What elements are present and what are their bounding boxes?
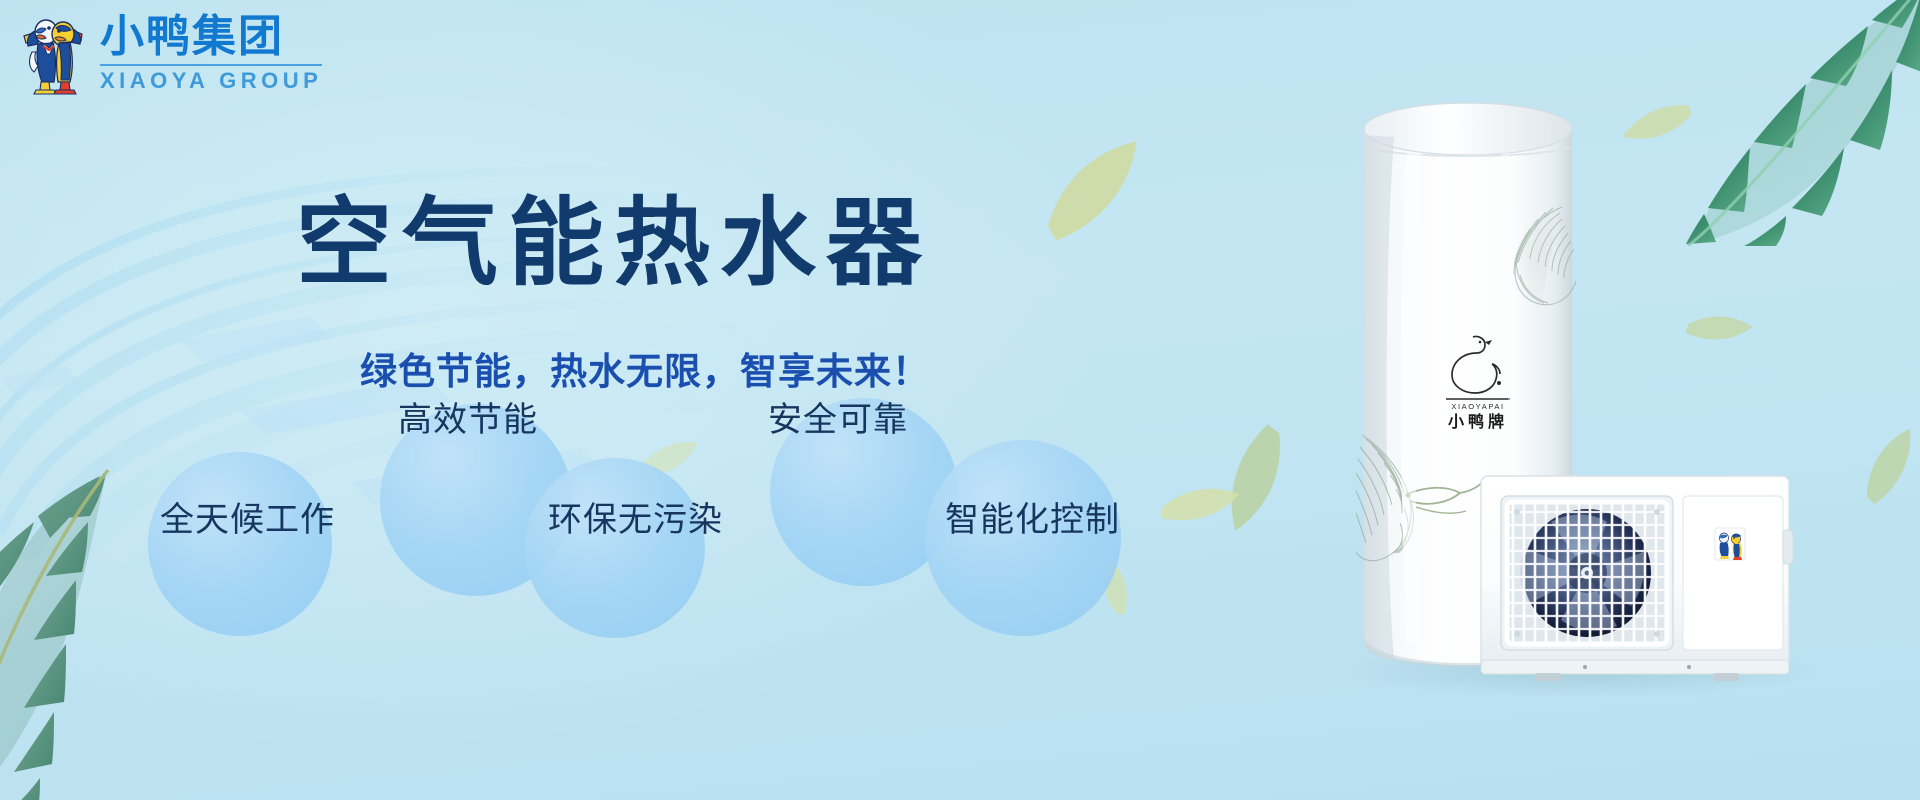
feature-label: 全天候工作	[160, 492, 335, 541]
brand-name-cn: 小鸭集团	[100, 15, 322, 59]
feature-label: 高效节能	[398, 392, 538, 441]
floating-leaf-icon	[1845, 420, 1920, 512]
tank-brand-mark-en: XIAOYAPAI	[1451, 402, 1504, 411]
tank-brand-mark-cn: 小鸭牌	[1448, 412, 1508, 431]
floating-leaf-icon	[1188, 413, 1318, 543]
logo-divider	[100, 64, 322, 66]
duck-mascot-pair-icon	[16, 10, 90, 96]
floating-leaf-icon	[1678, 288, 1760, 370]
floating-leaf-icon	[1616, 81, 1698, 163]
feature-label: 安全可靠	[768, 392, 908, 441]
monstera-leaf-icon	[1610, 0, 1920, 246]
floating-leaf-icon	[1153, 458, 1248, 553]
floating-leaf-icon	[1035, 130, 1156, 251]
duck-mascot-sticker-icon	[1715, 528, 1745, 560]
feature-label: 环保无污染	[548, 492, 723, 541]
brand-name-en: XIAOYA GROUP	[100, 70, 322, 92]
feature-bubble[interactable]	[148, 452, 332, 636]
feature-label: 智能化控制	[945, 492, 1120, 541]
feature-bubble[interactable]	[525, 458, 705, 638]
promo-banner: 小鸭集团 XIAOYA GROUP 空气能热水器 绿色节能，热水无限，智享未来！…	[0, 0, 1920, 800]
page-subtitle: 绿色节能，热水无限，智享未来！	[360, 341, 930, 395]
brand-logo[interactable]: 小鸭集团 XIAOYA GROUP	[16, 10, 322, 96]
outdoor-unit-product-image	[1477, 470, 1797, 685]
page-title: 空气能热水器	[296, 165, 932, 304]
